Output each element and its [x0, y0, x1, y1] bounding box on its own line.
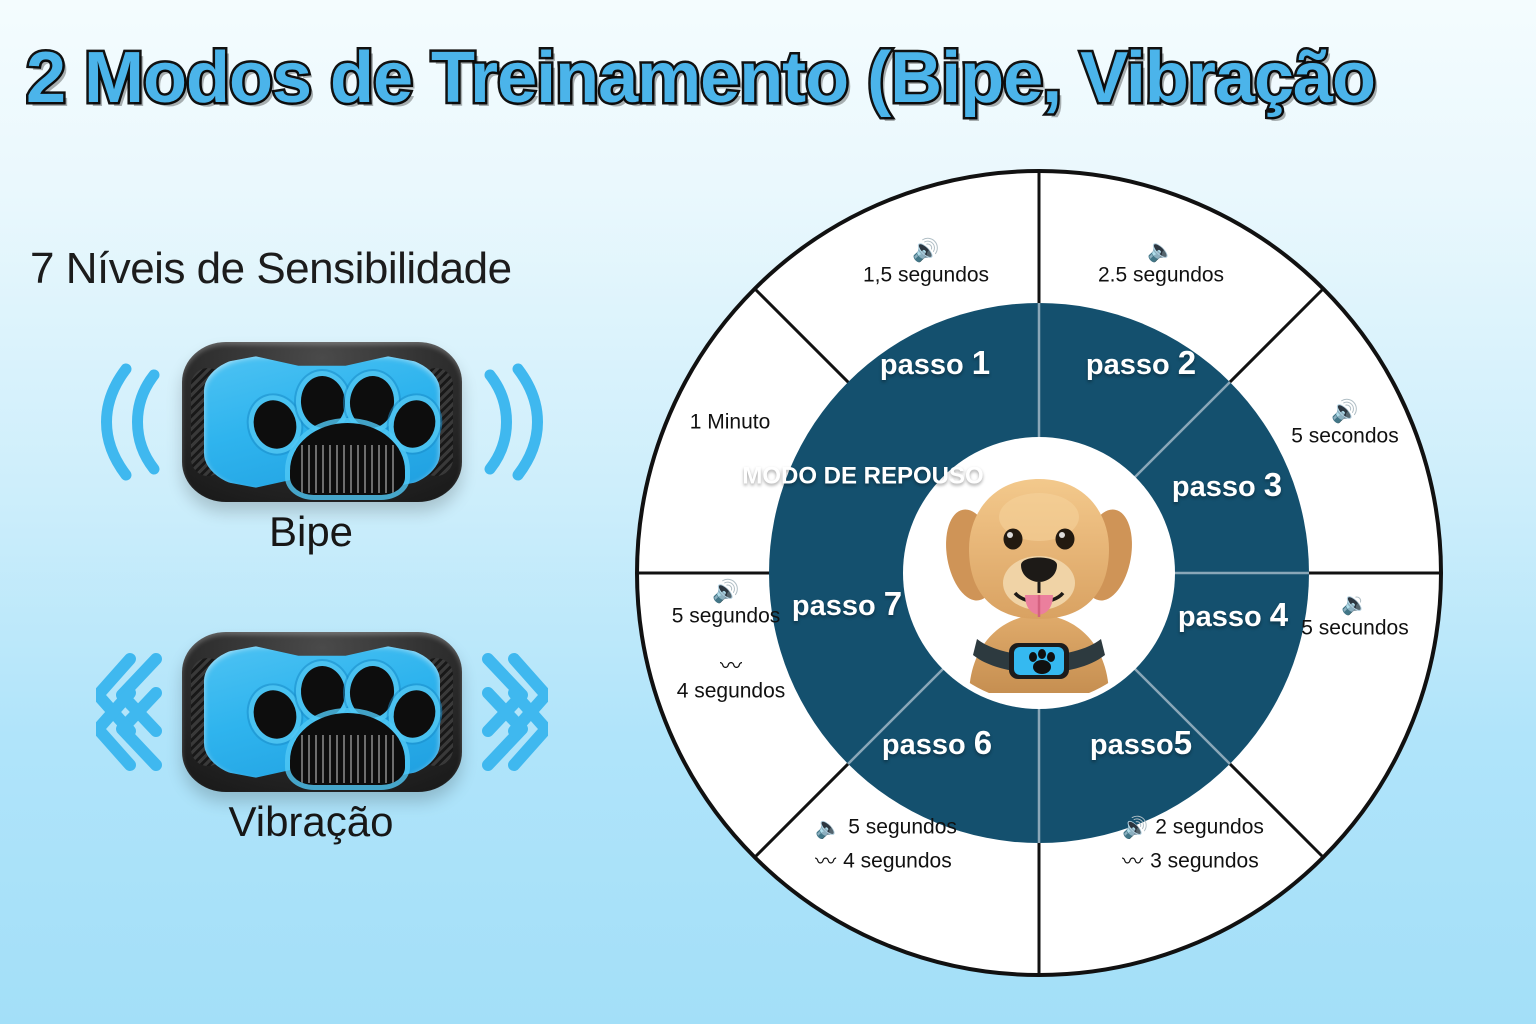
device-row-vibracao	[96, 632, 548, 792]
vibration-icon: 〰	[677, 656, 786, 678]
paw-pad-speaker-grille	[290, 713, 405, 785]
vibration-zigzag-left-icon	[96, 637, 174, 787]
paw-toe	[347, 374, 396, 430]
step-label-3: passo 3	[1172, 466, 1282, 504]
paw-icon	[204, 645, 440, 779]
speaker-loud-icon: 🔊	[1291, 401, 1398, 423]
paw-toe	[247, 685, 302, 745]
step-label-5: passo5	[1090, 724, 1192, 762]
speaker-grille-icon	[296, 735, 399, 783]
rest-mode-label: MODO DE REPOUSO	[742, 463, 983, 492]
device-row-bipe	[96, 342, 548, 502]
paw-toe	[247, 395, 302, 455]
paw-icon	[204, 355, 440, 489]
outer-segment-4: 🔉 5 secundos	[1301, 593, 1408, 642]
segment-6-row-b: 〰 4 segundos	[815, 850, 957, 875]
segment-6-row-a: 🔈 5 segundos	[815, 816, 957, 841]
paw-toe	[299, 374, 347, 430]
paw-toe	[347, 664, 396, 720]
step-label-1: passo 1	[880, 344, 990, 382]
segment-5-row-b: 〰 3 segundos	[1122, 850, 1264, 875]
speaker-low-icon: 🔉	[1301, 593, 1408, 615]
outer-segment-rest: 1 Minuto	[690, 411, 771, 436]
speaker-loud-icon: 🔊	[1122, 818, 1148, 839]
segment-5-row-a: 🔊 2 segundos	[1122, 816, 1264, 841]
page-subtitle: 7 Níveis de Sensibilidade	[30, 244, 512, 294]
collar-device-bipe	[182, 342, 462, 502]
step-label-7: passo 7	[792, 585, 902, 623]
device-card-bipe: Bipe	[96, 342, 548, 556]
speaker-grille-icon	[296, 445, 399, 493]
infographic-canvas: 2 Modos de Treinamento (Bipe, Vibração 7…	[0, 0, 1536, 1024]
outer-segment-3: 🔊 5 secondos	[1291, 401, 1398, 450]
header-block: 2 Modos de Treinamento (Bipe, Vibração	[26, 44, 1406, 112]
sound-wave-arcs-left-icon	[96, 347, 174, 497]
training-steps-wheel: passo 1 passo 2 passo 3 passo 4 passo5 p…	[633, 167, 1445, 979]
outer-segment-1: 🔊 1,5 segundos	[863, 240, 989, 289]
speaker-loud-icon: 🔊	[672, 581, 781, 603]
outer-segment-7b: 〰 4 segundos	[677, 656, 786, 705]
sound-wave-arcs-right-icon	[470, 347, 548, 497]
page-title: 2 Modos de Treinamento (Bipe, Vibração	[26, 44, 1406, 112]
paw-pad-speaker-grille	[290, 423, 405, 495]
device-label-vibracao: Vibração	[96, 798, 526, 846]
speaker-loud-icon: 🔊	[863, 240, 989, 262]
outer-segment-6: 🔈 5 segundos 〰 4 segundos	[815, 816, 957, 875]
speaker-mute-icon: 🔈	[815, 818, 841, 839]
step-label-6: passo 6	[882, 724, 992, 762]
step-label-4: passo 4	[1178, 596, 1288, 634]
outer-segment-7: 🔊 5 segundos	[672, 581, 781, 630]
vibration-icon: 〰	[815, 851, 836, 872]
outer-segment-5: 🔊 2 segundos 〰 3 segundos	[1122, 816, 1264, 875]
speaker-mute-icon: 🔈	[1098, 240, 1224, 262]
device-label-bipe: Bipe	[96, 508, 526, 556]
vibration-zigzag-right-icon	[470, 637, 548, 787]
vibration-icon: 〰	[1122, 851, 1143, 872]
outer-segment-2: 🔈 2.5 segundos	[1098, 240, 1224, 289]
step-label-2: passo 2	[1086, 344, 1196, 382]
device-card-vibracao: Vibração	[96, 632, 548, 846]
collar-device-vibracao	[182, 632, 462, 792]
paw-toe	[299, 664, 347, 720]
